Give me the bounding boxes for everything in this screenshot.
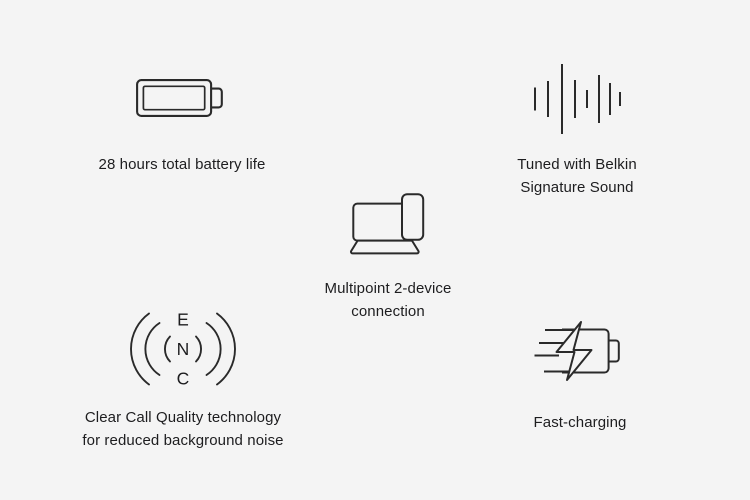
feature-clear-call-quality: E N C Clear Call Quality technology for … [48, 306, 318, 452]
battery-lightning-fast-charge-icon-wrap [534, 318, 626, 384]
feature-multipoint-caption: Multipoint 2-device connection [325, 278, 452, 323]
feature-highlights-panel: 28 hours total battery life Tuned with B… [0, 0, 750, 500]
laptop-phone-multipoint-icon [348, 193, 428, 255]
feature-clear-call-quality-caption: Clear Call Quality technology for reduce… [82, 407, 283, 452]
sound-waveform-icon-wrap [531, 58, 623, 140]
enc-icon-letter-n: N [177, 339, 190, 359]
battery-full-icon-wrap [136, 66, 228, 130]
enc-icon-letter-e: E [177, 310, 189, 330]
feature-multipoint: Multipoint 2-device connection [288, 188, 488, 323]
battery-full-icon [136, 72, 228, 124]
laptop-phone-multipoint-icon-wrap [348, 188, 428, 260]
feature-signature-sound: Tuned with Belkin Signature Sound [462, 58, 692, 199]
enc-noise-cancelling-icon-wrap: E N C [134, 306, 232, 392]
sound-waveform-icon [531, 60, 623, 138]
enc-noise-cancelling-icon: E N C [134, 309, 232, 389]
feature-battery-life: 28 hours total battery life [57, 66, 307, 177]
battery-lightning-fast-charge-icon [534, 321, 626, 381]
feature-fast-charging-caption: Fast-charging [533, 412, 626, 435]
enc-icon-letter-c: C [177, 369, 190, 389]
feature-signature-sound-caption: Tuned with Belkin Signature Sound [517, 154, 637, 199]
feature-battery-life-caption: 28 hours total battery life [99, 154, 266, 177]
feature-fast-charging: Fast-charging [478, 318, 682, 435]
